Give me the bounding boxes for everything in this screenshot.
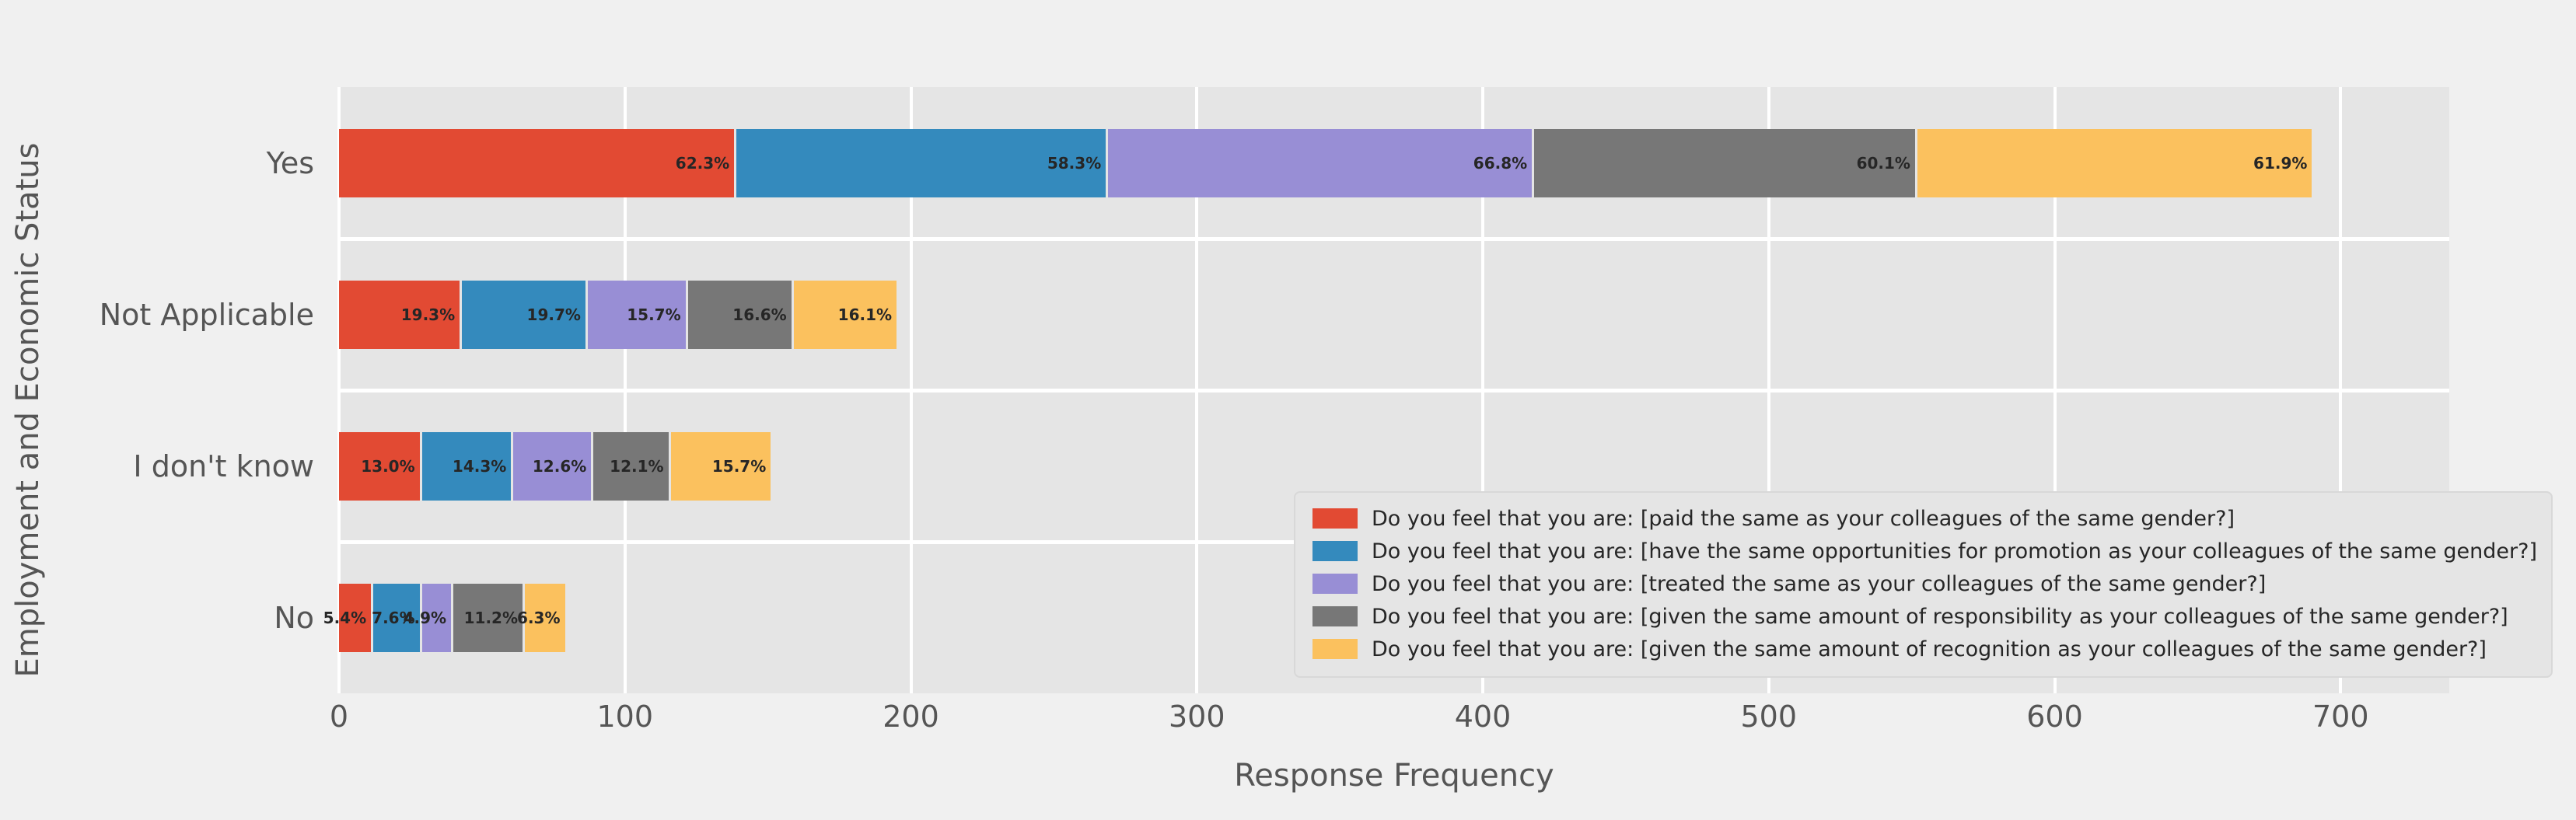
legend-item-label: Do you feel that you are: [given the sam…	[1372, 637, 2487, 661]
x-tick-label: 100	[596, 700, 653, 734]
bar-segment: 15.7%	[588, 281, 688, 349]
bar-segment-label: 11.2%	[464, 609, 523, 627]
x-tick-label: 700	[2312, 700, 2369, 734]
stacked-bar-row: 5.4%7.6%4.9%11.2%6.3%	[339, 584, 565, 652]
bar-segment: 12.1%	[593, 432, 670, 501]
bar-segment-label: 58.3%	[1047, 154, 1106, 173]
y-gridline	[339, 237, 2449, 241]
x-tick-label: 0	[330, 700, 348, 734]
legend-color-swatch	[1312, 606, 1358, 626]
bar-segment: 61.9%	[1917, 129, 2312, 197]
chart-legend[interactable]: Do you feel that you are: [paid the same…	[1294, 491, 2553, 678]
x-tick-label: 300	[1169, 700, 1225, 734]
stacked-bar-row: 13.0%14.3%12.6%12.1%15.7%	[339, 432, 771, 501]
bar-segment-label: 5.4%	[323, 609, 371, 627]
stacked-bar-row: 62.3%58.3%66.8%60.1%61.9%	[339, 129, 2312, 197]
bar-segment: 58.3%	[736, 129, 1108, 197]
bar-segment-label: 16.1%	[838, 305, 897, 324]
bar-segment-label: 66.8%	[1473, 154, 1532, 173]
bar-segment-label: 62.3%	[676, 154, 734, 173]
bar-segment: 13.0%	[339, 432, 422, 501]
legend-item[interactable]: Do you feel that you are: [given the sam…	[1312, 633, 2537, 665]
bar-segment: 15.7%	[671, 432, 771, 501]
bar-segment-label: 19.7%	[527, 305, 585, 324]
bar-segment-label: 12.6%	[533, 457, 591, 476]
bar-segment-label: 12.1%	[610, 457, 668, 476]
y-axis-title: Employment and Economic Status	[0, 0, 56, 820]
bar-segment-label: 6.3%	[517, 609, 564, 627]
bar-segment: 60.1%	[1534, 129, 1917, 197]
y-gridline	[339, 389, 2449, 393]
bar-segment: 5.4%	[339, 584, 373, 652]
bar-segment-label: 4.9%	[404, 609, 451, 627]
x-tick-label: 200	[883, 700, 939, 734]
bar-segment: 14.3%	[422, 432, 514, 501]
legend-color-swatch	[1312, 574, 1358, 594]
bar-segment: 62.3%	[339, 129, 736, 197]
legend-item-label: Do you feel that you are: [have the same…	[1372, 539, 2537, 564]
bar-segment-label: 60.1%	[1857, 154, 1915, 173]
x-tick-label: 400	[1455, 700, 1512, 734]
bar-segment-label: 19.3%	[401, 305, 460, 324]
bar-segment-label: 15.7%	[627, 305, 685, 324]
legend-item[interactable]: Do you feel that you are: [have the same…	[1312, 535, 2537, 567]
bar-segment: 11.2%	[453, 584, 525, 652]
bar-segment: 66.8%	[1108, 129, 1534, 197]
bar-segment-label: 13.0%	[361, 457, 419, 476]
bar-segment-label: 15.7%	[712, 457, 771, 476]
legend-item-label: Do you feel that you are: [given the sam…	[1372, 605, 2508, 629]
bar-segment: 19.3%	[339, 281, 462, 349]
bar-segment: 4.9%	[422, 584, 453, 652]
legend-item-label: Do you feel that you are: [paid the same…	[1372, 507, 2235, 531]
bar-segment: 6.3%	[525, 584, 564, 652]
legend-item[interactable]: Do you feel that you are: [given the sam…	[1312, 600, 2537, 633]
chart-figure: Employment and Economic Status 62.3%58.3…	[0, 0, 2576, 820]
bar-segment: 16.6%	[688, 281, 794, 349]
legend-item[interactable]: Do you feel that you are: [paid the same…	[1312, 502, 2537, 535]
bar-segment-label: 16.6%	[732, 305, 791, 324]
stacked-bar-row: 19.3%19.7%15.7%16.6%16.1%	[339, 281, 897, 349]
bar-segment-label: 61.9%	[2253, 154, 2312, 173]
legend-item[interactable]: Do you feel that you are: [treated the s…	[1312, 567, 2537, 600]
x-axis-title: Response Frequency	[339, 758, 2449, 794]
bar-segment: 19.7%	[462, 281, 588, 349]
legend-color-swatch	[1312, 541, 1358, 561]
bar-segment: 16.1%	[794, 281, 897, 349]
x-tick-label: 500	[1740, 700, 1797, 734]
x-tick-label: 600	[2026, 700, 2083, 734]
legend-item-label: Do you feel that you are: [treated the s…	[1372, 572, 2266, 596]
legend-color-swatch	[1312, 508, 1358, 529]
bar-segment-label: 14.3%	[453, 457, 511, 476]
legend-color-swatch	[1312, 639, 1358, 659]
bar-segment: 12.6%	[513, 432, 593, 501]
